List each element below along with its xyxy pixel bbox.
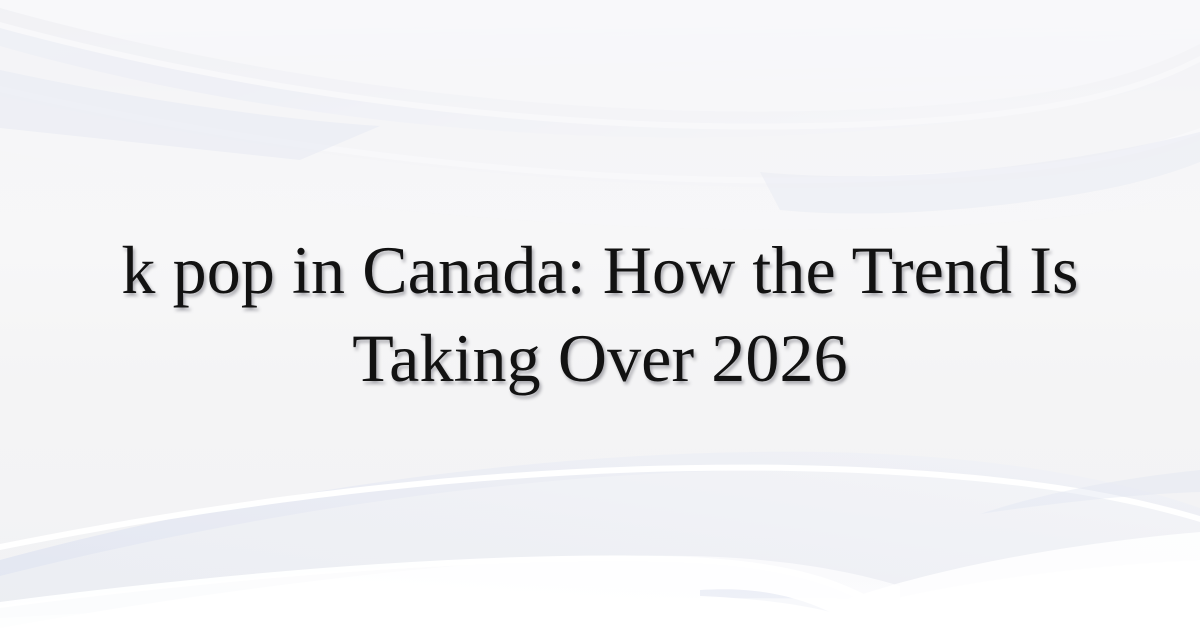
headline-container: k pop in Canada: How the Trend Is Taking… — [0, 0, 1200, 628]
page-title: k pop in Canada: How the Trend Is Taking… — [80, 226, 1120, 403]
og-share-card: k pop in Canada: How the Trend Is Taking… — [0, 0, 1200, 628]
